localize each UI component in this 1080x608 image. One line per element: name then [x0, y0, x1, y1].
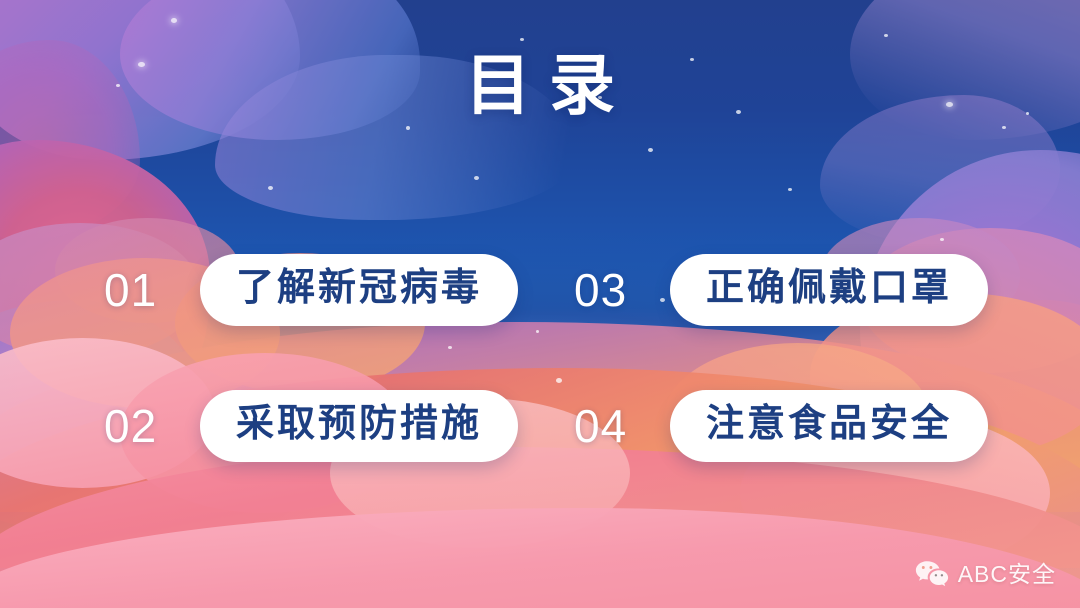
- star: [520, 38, 524, 41]
- watermark-text: ABC安全: [958, 563, 1056, 586]
- toc-item-02[interactable]: 02 采取预防措施: [104, 358, 574, 494]
- toc-label-04: 注意食品安全: [706, 405, 952, 445]
- star: [171, 18, 177, 23]
- star: [788, 188, 792, 191]
- toc-item-04[interactable]: 04 注意食品安全: [574, 358, 984, 494]
- table-of-contents: 01 了解新冠病毒 03 正确佩戴口罩 02 采取预防措施 04 注意食品安全: [104, 222, 984, 494]
- toc-number-03: 03: [574, 267, 648, 313]
- watermark: ABC安全: [915, 560, 1056, 588]
- toc-pill-03[interactable]: 正确佩戴口罩: [670, 254, 988, 326]
- toc-pill-04[interactable]: 注意食品安全: [670, 390, 988, 462]
- presentation-slide: 目录 01 了解新冠病毒 03 正确佩戴口罩 02 采取预防措施 04 注意食品…: [0, 0, 1080, 608]
- star: [1002, 126, 1006, 129]
- star: [268, 186, 273, 190]
- page-title: 目录: [0, 52, 1080, 118]
- toc-item-03[interactable]: 03 正确佩戴口罩: [574, 222, 984, 358]
- star: [474, 176, 479, 180]
- toc-number-02: 02: [104, 403, 178, 449]
- toc-label-02: 采取预防措施: [236, 405, 482, 445]
- toc-pill-02[interactable]: 采取预防措施: [200, 390, 518, 462]
- toc-label-01: 了解新冠病毒: [236, 269, 482, 309]
- toc-number-01: 01: [104, 267, 178, 313]
- star: [406, 126, 410, 130]
- star: [884, 34, 888, 37]
- wechat-icon: [915, 560, 949, 588]
- toc-number-04: 04: [574, 403, 648, 449]
- toc-label-03: 正确佩戴口罩: [706, 269, 952, 309]
- star: [648, 148, 653, 152]
- toc-item-01[interactable]: 01 了解新冠病毒: [104, 222, 574, 358]
- toc-pill-01[interactable]: 了解新冠病毒: [200, 254, 518, 326]
